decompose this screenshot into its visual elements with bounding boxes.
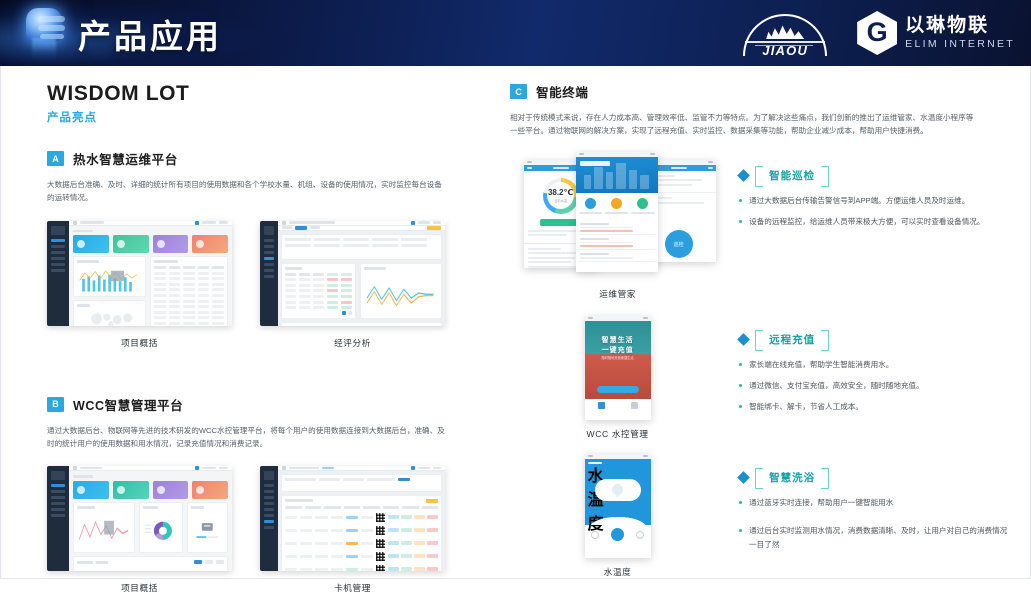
feature-bullets: 通过蓝牙实时连接，帮助用户一键智能用水 通过后台实时监测用水情况，消费数据清晰、… bbox=[739, 496, 1014, 552]
wcc-overview-screenshot[interactable] bbox=[47, 466, 232, 571]
shower-card bbox=[595, 479, 641, 501]
donut-chart bbox=[143, 512, 179, 550]
terminal-row-wcc: 智慧生活 一键充值 随时随地充值便捷生活 WCC 水控管理 bbox=[510, 316, 1014, 440]
tab-power[interactable] bbox=[611, 528, 624, 541]
stat-panel bbox=[191, 512, 224, 550]
bottom-tab-bar[interactable] bbox=[585, 399, 651, 412]
feature-title: 智慧洗浴 bbox=[755, 468, 829, 487]
analysis-screenshot[interactable] bbox=[260, 221, 445, 326]
building-illustration bbox=[576, 157, 658, 193]
dashboard-overview-screenshot[interactable] bbox=[47, 221, 232, 326]
screenshot-cell: 卡机管理 bbox=[260, 466, 445, 594]
section-b-badge: B bbox=[47, 397, 64, 412]
product-application-page: 产品应用 JIAOU G 以琳物联 ELIM INTERNET WISDOM L… bbox=[0, 0, 1031, 579]
phone-water-temperature-app[interactable]: 水温度 bbox=[585, 454, 651, 558]
gauge-value: 38.2℃ bbox=[548, 189, 573, 197]
screenshot-caption: 项目概括 bbox=[47, 582, 232, 594]
combo-chart bbox=[77, 567, 224, 571]
bar-line-chart bbox=[77, 266, 142, 293]
feature-smart-inspection: 智能巡检 通过大数据后台传输告警信号到APP端。方便运维人员及时运维。 设备的远… bbox=[739, 152, 1014, 236]
feature-bullet: 设备的远程监控，给运维人员带来极大方便，可以实时查看设备情况。 bbox=[739, 215, 1014, 229]
screenshot-caption: 经评分析 bbox=[260, 337, 445, 349]
terminal-caption: 水温度 bbox=[585, 566, 651, 578]
feature-bullets: 家长端在线充值，帮助学生智能消费用水。 通过微信、支付宝充值，高效安全，随时随地… bbox=[739, 358, 1014, 414]
table-pagination[interactable] bbox=[285, 311, 352, 315]
jiaou-logo-text: JIAOU bbox=[739, 43, 831, 58]
section-b-title: WCC智慧管理平台 bbox=[73, 395, 183, 414]
terminal-caption: WCC 水控管理 bbox=[585, 428, 651, 440]
jiaou-logo: JIAOU bbox=[739, 10, 831, 56]
wcc-phone-group: 智慧生活 一键充值 随时随地充值便捷生活 WCC 水控管理 bbox=[510, 316, 725, 440]
terminal-row-ops: 38.2℃ 当前水温 bbox=[510, 152, 1014, 300]
section-a-description: 大数据后台准确、及时、详细的统计所有项目的使用数据和各个学校水量、机组、设备的使… bbox=[47, 178, 445, 205]
feature-bullets: 通过大数据后台传输告警信号到APP端。方便运维人员及时运维。 设备的远程监控，给… bbox=[739, 194, 1014, 229]
section-a-title: 热水智慧运维平台 bbox=[73, 149, 178, 168]
phone-wcc-recharge[interactable]: 智慧生活 一键充值 随时随地充值便捷生活 bbox=[585, 316, 651, 420]
right-column: C 智能终端 相对于传统模式来说，存在人力成本高、管理效率低、监管不力等特点。为… bbox=[500, 66, 1030, 578]
qr-code-icon bbox=[376, 513, 385, 522]
section-c-header: C 智能终端 bbox=[510, 82, 1014, 101]
gauge-label: 当前水温 bbox=[554, 198, 567, 203]
world-map-chart bbox=[77, 310, 142, 325]
elim-g-icon: G bbox=[857, 11, 897, 55]
screenshot-cell: 经评分析 bbox=[260, 221, 445, 349]
section-a-badge: A bbox=[47, 151, 64, 166]
art-line-2: 一键充值 bbox=[585, 345, 651, 355]
tab-mine[interactable] bbox=[636, 531, 644, 539]
recharge-button[interactable] bbox=[597, 386, 639, 393]
screenshot-caption: 卡机管理 bbox=[260, 582, 445, 594]
wisdom-lot-title: WISDOM LOT bbox=[47, 82, 480, 106]
page-title: 产品应用 bbox=[78, 10, 222, 58]
temperature-gauge: 38.2℃ 当前水温 bbox=[543, 178, 579, 214]
elim-logo-cn: 以琳物联 bbox=[905, 16, 1015, 37]
content-body: WISDOM LOT 产品亮点 A 热水智慧运维平台 大数据后台准确、及时、详细… bbox=[0, 66, 1031, 579]
screenshot-cell: 项目概括 bbox=[47, 221, 232, 349]
card-management-screenshot[interactable] bbox=[260, 466, 445, 571]
wave-decoration bbox=[585, 515, 651, 525]
screenshot-caption: 项目概括 bbox=[47, 337, 232, 349]
feature-bullet: 通过大数据后台传输告警信号到APP端。方便运维人员及时运维。 bbox=[739, 194, 1014, 208]
section-b-header: B WCC智慧管理平台 bbox=[47, 395, 480, 414]
alert-list[interactable] bbox=[576, 217, 658, 265]
section-c-badge: C bbox=[510, 84, 527, 99]
tab-home[interactable] bbox=[598, 402, 605, 409]
tab-profile[interactable] bbox=[631, 402, 638, 409]
section-a-header: A 热水智慧运维平台 bbox=[47, 149, 480, 168]
data-table bbox=[154, 266, 224, 325]
shower-icon bbox=[610, 482, 626, 498]
screenshot-cell: 项目概括 bbox=[47, 466, 232, 594]
shower-screen: 水温度 bbox=[585, 459, 651, 525]
product-highlights-subtitle: 产品亮点 bbox=[47, 109, 480, 125]
art-line-3: 随时随地充值便捷生活 bbox=[585, 355, 651, 360]
feature-bullet: 家长端在线充值，帮助学生智能消费用水。 bbox=[739, 358, 1014, 372]
fist-icon bbox=[18, 4, 72, 66]
dual-line-chart bbox=[364, 273, 438, 316]
inspection-button[interactable]: 巡检 bbox=[665, 230, 693, 258]
left-column: WISDOM LOT 产品亮点 A 热水智慧运维平台 大数据后台准确、及时、详细… bbox=[1, 66, 500, 578]
diamond-icon bbox=[737, 333, 750, 346]
terminal-row-watertemp: 水温度 水温度 bbox=[510, 454, 1014, 578]
section-b-description: 通过大数据后台、物联网等先进的技术研发的WCC水控管理平台，将每个用户的使用数据… bbox=[47, 424, 445, 451]
section-a-screenshots: 项目概括 bbox=[47, 221, 480, 349]
feature-smart-bathing: 智慧洗浴 通过蓝牙实时连接，帮助用户一键智能用水 通过后台实时监测用水情况，消费… bbox=[739, 454, 1014, 559]
feature-title: 远程充值 bbox=[755, 330, 829, 349]
feature-bullet: 智能绑卡、解卡，节省人工成本。 bbox=[739, 400, 1014, 414]
diamond-icon bbox=[737, 169, 750, 182]
page-header: 产品应用 JIAOU G 以琳物联 ELIM INTERNET bbox=[0, 0, 1031, 66]
app-title: 水温度 bbox=[588, 462, 602, 464]
art-line-1: 智慧生活 bbox=[585, 335, 651, 345]
feature-remote-recharge: 远程充值 家长端在线充值，帮助学生智能消费用水。 通过微信、支付宝充值，高效安全… bbox=[739, 316, 1014, 421]
feature-bullet: 通过微信、支付宝充值，高效安全，随时随地充值。 bbox=[739, 379, 1014, 393]
recharge-illustration: 智慧生活 一键充值 随时随地充值便捷生活 bbox=[585, 321, 651, 399]
section-b-screenshots: 项目概括 bbox=[47, 466, 480, 594]
diamond-icon bbox=[737, 471, 750, 484]
pink-line-chart bbox=[77, 512, 131, 550]
section-c-title: 智能终端 bbox=[536, 82, 588, 101]
watertemp-phone-group: 水温度 水温度 bbox=[510, 454, 725, 578]
elim-logo: G 以琳物联 ELIM INTERNET bbox=[857, 11, 1015, 55]
quick-actions[interactable] bbox=[576, 193, 658, 212]
ops-phone-group: 38.2℃ 当前水温 bbox=[510, 152, 725, 300]
phone-ops-dashboard[interactable] bbox=[576, 152, 658, 272]
feature-title: 智能巡检 bbox=[755, 166, 829, 185]
feature-bullet: 通过蓝牙实时连接，帮助用户一键智能用水 bbox=[739, 496, 1014, 510]
terminal-caption: 运维管家 bbox=[518, 288, 718, 300]
elim-logo-en: ELIM INTERNET bbox=[905, 38, 1015, 50]
header-logos: JIAOU G 以琳物联 ELIM INTERNET bbox=[739, 0, 1015, 66]
feature-bullet: 通过后台实时监测用水情况，消费数据清晰、及时，让用户对自己的消费情况一目了然 bbox=[739, 524, 1014, 552]
section-c-description: 相对于传统模式来说，存在人力成本高、管理效率低、监管不力等特点。为了解决这些痛点… bbox=[510, 111, 980, 138]
result-table bbox=[285, 273, 352, 310]
